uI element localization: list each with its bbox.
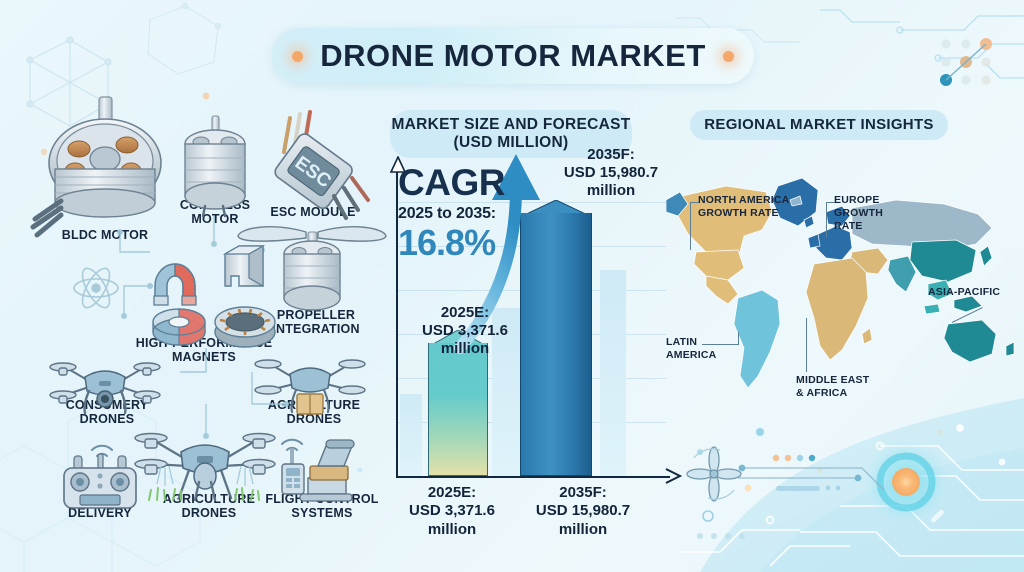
- spray-drone-icon: [135, 434, 275, 501]
- x-axis: [396, 476, 670, 478]
- region-label-north-america: NORTH AMERICA GROWTH RATE: [698, 194, 798, 220]
- axis-caption-2025e: 2025E: USD 3,371.6 million: [392, 484, 512, 539]
- regional-map: NORTH AMERICA GROWTH RATE EUROPE GROWTH …: [666, 148, 1024, 410]
- esc-module-icon: ESC: [272, 112, 368, 218]
- leader-middle-east-africa: [806, 318, 807, 372]
- title-accent-dot-right: [723, 51, 734, 62]
- label-cargo-delivery: CARGO & DELIVERY: [44, 492, 156, 521]
- leader-europe: [826, 202, 827, 238]
- title-accent-dot-left: [292, 51, 303, 62]
- market-forecast-chart: CAGR 2025 to 2035: 16.8% 2025E: USD 3,37…: [384, 158, 670, 478]
- section-title-regional: REGIONAL MARKET INSIGHTS: [690, 110, 948, 140]
- region-label-latin-america: LATIN AMERICA: [666, 336, 726, 362]
- leader-north-america: [690, 202, 691, 250]
- callout-2035f: 2035F: USD 15,980.7 million: [552, 146, 670, 200]
- label-bldc-motor: BLDC MOTOR: [40, 228, 170, 242]
- ghost-bar: [400, 394, 422, 476]
- label-magnets: HIGH-PERFORMANCE MAGNETS: [130, 336, 278, 365]
- label-agriculture-drones-2: AGRICULTURE DRONES: [150, 492, 268, 521]
- label-propeller-integration: PROPELLER INTEGRATION: [264, 308, 368, 337]
- infographic-canvas: DRONE MOTOR MARKET MARKET SIZE AND FOREC…: [0, 0, 1024, 572]
- cagr-block: CAGR 2025 to 2035: 16.8%: [398, 164, 548, 262]
- label-agriculture-drones-1: AGRICULTURE DRONES: [256, 398, 372, 427]
- page-title: DRONE MOTOR MARKET: [320, 38, 706, 74]
- label-consumer-drones: CONSUMERY DRONES: [46, 398, 168, 427]
- callout-2025e: 2025E: USD 3,371.6 million: [406, 304, 524, 358]
- cagr-word: CAGR: [398, 164, 548, 201]
- page-title-banner: DRONE MOTOR MARKET: [272, 28, 754, 84]
- label-coreless-motor: CORELESS MOTOR: [172, 198, 258, 227]
- bar-front-face: [428, 343, 488, 476]
- magnets-icon: [153, 246, 275, 347]
- leader-latin-america-v: [738, 332, 739, 345]
- propeller-integration-icon: [238, 227, 386, 310]
- region-label-middle-east-africa: MIDDLE EAST & AFRICA: [796, 374, 882, 400]
- region-label-asia-pacific: ASIA-PACIFIC: [928, 286, 1018, 299]
- cagr-period: 2025 to 2035:: [398, 205, 548, 223]
- label-esc-module: ESC MODULE: [262, 205, 364, 219]
- world-map-svg: [666, 148, 1024, 410]
- region-label-europe: EUROPE GROWTH RATE: [834, 194, 914, 232]
- bldc-motor-icon: [33, 97, 161, 235]
- cagr-value: 16.8%: [398, 224, 548, 262]
- axis-caption-2035f: 2035F: USD 15,980.7 million: [520, 484, 646, 539]
- ghost-bar: [600, 270, 626, 476]
- x-axis-arrow: [664, 466, 684, 486]
- label-flight-control: FLIGHT CONTROL SYSTEMS: [262, 492, 382, 521]
- esc-chip-label: ESC: [291, 152, 335, 192]
